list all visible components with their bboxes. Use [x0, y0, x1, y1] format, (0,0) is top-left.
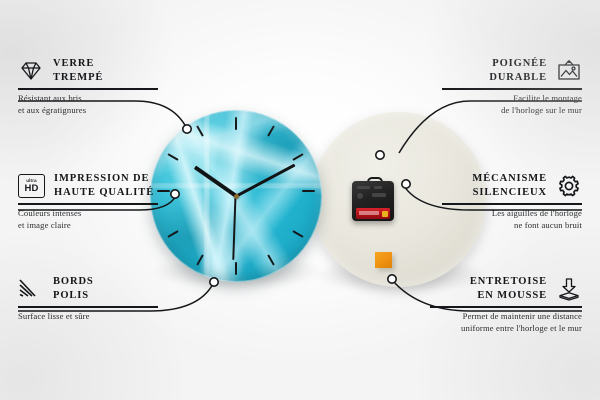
feature-mecanisme-silencieux: MÉCANISME SILENCIEUX Les aiguilles de l'…: [442, 172, 582, 231]
feature-description: Résistant aux bris et aux égratignures: [18, 93, 158, 116]
feature-description: Surface lisse et sûre: [18, 311, 158, 323]
foam-spacer-icon: [556, 277, 582, 301]
feature-title: BORDS POLIS: [53, 275, 94, 303]
feature-description: Les aiguilles de l'horloge ne font aucun…: [442, 208, 582, 231]
feature-impression-haute-qualite: ultra HD IMPRESSION DE HAUTE QUALITÉ Cou…: [18, 172, 158, 231]
polished-edges-icon: [18, 277, 44, 301]
gear-icon: [556, 174, 582, 198]
feature-title: VERRE TREMPÉ: [53, 57, 103, 85]
feature-divider: [18, 306, 158, 307]
connector-dot-mecanisme: [402, 180, 410, 188]
connector-dot-verre-trempe: [183, 125, 191, 133]
feature-divider: [442, 203, 582, 204]
connector-dot-entretoise: [388, 275, 396, 283]
connector-dot-bords: [210, 278, 218, 286]
ultra-hd-icon: ultra HD: [18, 174, 45, 198]
infographic-canvas: VERRE TREMPÉ Résistant aux bris et aux é…: [0, 0, 600, 400]
feature-poignee-durable: POIGNÉE DURABLE Facilite le montage de l…: [442, 57, 582, 116]
feature-divider: [442, 88, 582, 89]
feature-description: Facilite le montage de l'horloge sur le …: [442, 93, 582, 116]
feature-divider: [430, 306, 582, 307]
feature-title: POIGNÉE DURABLE: [489, 57, 547, 85]
diamond-icon: [18, 59, 44, 83]
feature-description: Couleurs intenses et image claire: [18, 208, 158, 231]
feature-verre-trempe: VERRE TREMPÉ Résistant aux bris et aux é…: [18, 57, 158, 116]
feature-title: IMPRESSION DE HAUTE QUALITÉ: [54, 172, 154, 200]
wall-hanger-icon: [556, 59, 582, 83]
feature-title: MÉCANISME SILENCIEUX: [472, 172, 547, 200]
feature-entretoise-en-mousse: ENTRETOISE EN MOUSSE Permet de maintenir…: [430, 275, 582, 334]
feature-divider: [18, 88, 158, 89]
connector-dot-impression: [171, 190, 179, 198]
feature-title: ENTRETOISE EN MOUSSE: [470, 275, 547, 303]
feature-description: Permet de maintenir une distance uniform…: [430, 311, 582, 334]
feature-divider: [18, 203, 158, 204]
connector-dot-poignee: [376, 151, 384, 159]
feature-bords-polis: BORDS POLIS Surface lisse et sûre: [18, 275, 158, 323]
